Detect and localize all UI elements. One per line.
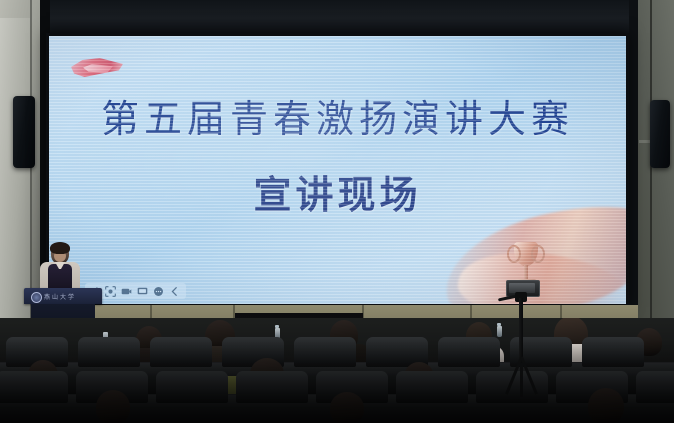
collapse-chevron-icon[interactable] [169, 286, 180, 297]
podium-top: 燕山大学 [24, 288, 102, 304]
seat [0, 371, 68, 403]
water-bottle-cap [275, 325, 279, 328]
trophy-handle-left [507, 245, 521, 263]
auditorium-photo: 第五届青春激扬演讲大赛 宣讲现场 [0, 0, 674, 423]
seat [236, 371, 308, 403]
seat [150, 337, 212, 367]
led-screen: 第五届青春激扬演讲大赛 宣讲现场 [49, 36, 626, 304]
audience-area [0, 318, 674, 423]
right-wall-seam [650, 0, 652, 340]
right-wall-speaker [650, 100, 670, 168]
slide-title: 第五届青春激扬演讲大赛 [49, 88, 626, 143]
left-wall-panel [0, 18, 30, 318]
trophy-handle-right [531, 245, 545, 263]
audience-head [330, 392, 364, 423]
seat [396, 371, 468, 403]
audience-head [96, 390, 130, 423]
podium-name-text: 燕山大学 [44, 292, 76, 301]
seat [636, 371, 674, 403]
audience-head [588, 388, 624, 423]
camera-tripod [498, 272, 544, 397]
seat [582, 337, 644, 367]
more-options-icon[interactable] [153, 286, 164, 297]
seat [156, 371, 228, 403]
right-screen-gap [629, 0, 638, 340]
screen-icon[interactable] [121, 286, 132, 297]
right-wall [636, 0, 674, 340]
tripod-leg [520, 363, 523, 397]
presenter-hair [50, 242, 70, 254]
seat [78, 337, 140, 367]
university-emblem [31, 292, 42, 303]
spotlight-icon[interactable] [105, 286, 116, 297]
seat [294, 337, 356, 367]
left-wall-speaker [13, 96, 35, 168]
whiteboard-icon[interactable] [137, 286, 148, 297]
seat [438, 337, 500, 367]
